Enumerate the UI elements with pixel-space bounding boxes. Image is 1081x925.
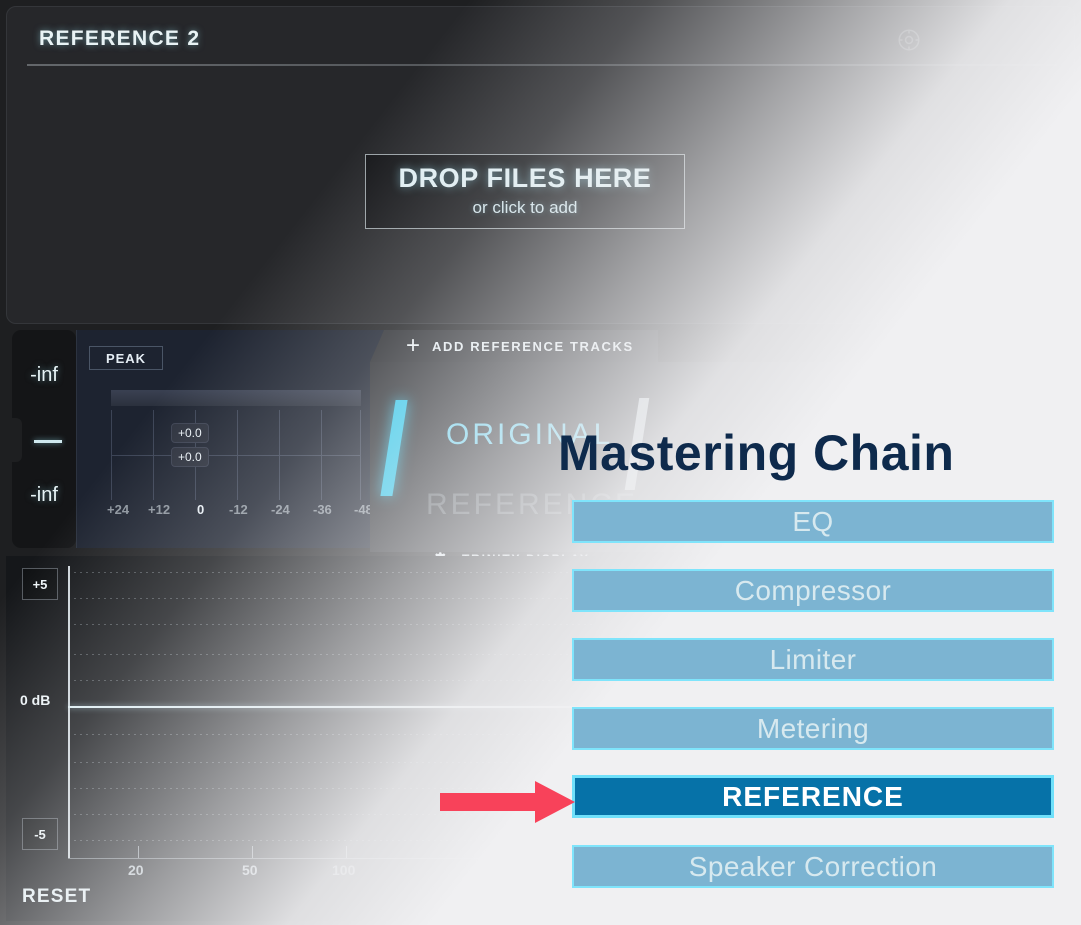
reset-button[interactable]: RESET [22,886,91,908]
chain-item-metering[interactable]: Metering [572,707,1054,750]
chain-item-label: Limiter [770,644,857,676]
scale-tick: -24 [271,502,290,517]
eq-freq-tick: 100 [332,862,355,878]
drop-zone-subtitle: or click to add [473,198,578,218]
scale-tick: 0 [197,502,204,517]
eq-x-axis [68,858,596,859]
scale-tick: -12 [229,502,248,517]
drop-zone-title: DROP FILES HERE [398,165,651,192]
chain-item-label: Compressor [735,575,891,607]
add-reference-tracks-button[interactable]: + ADD REFERENCE TRACKS [370,330,658,362]
meter-value-badge: +0.0 [171,447,209,467]
meter-left-rail[interactable]: -inf -inf [12,330,76,548]
chain-item-limiter[interactable]: Limiter [572,638,1054,681]
meter-scale: +24 +12 0 -12 -24 -36 -48 [111,502,391,522]
meter-bottom-value: -inf [12,484,76,507]
chain-item-reference[interactable]: REFERENCE [572,775,1054,818]
meter-level-bar [111,390,361,406]
scale-tick: +12 [148,502,170,517]
chain-item-speaker-correction[interactable]: Speaker Correction [572,845,1054,888]
plus-icon: + [406,334,420,358]
mastering-chain-panel: Mastering Chain EQ Compressor Limiter Me… [556,424,1081,904]
chain-item-compressor[interactable]: Compressor [572,569,1054,612]
eq-freq-tick: 20 [128,862,144,878]
mastering-chain-title: Mastering Chain [558,424,954,482]
gear-icon[interactable] [896,27,922,53]
chain-item-label: Speaker Correction [689,851,937,883]
drop-files-zone[interactable]: DROP FILES HERE or click to add [365,154,685,229]
eq-response-curve [68,706,596,708]
chain-item-label: EQ [792,506,833,538]
scale-tick: +24 [107,502,129,517]
meter-value-badge: +0.0 [171,423,209,443]
meter-grid [111,410,361,500]
title-divider [27,64,1057,66]
chain-item-eq[interactable]: EQ [572,500,1054,543]
rail-notch [12,418,22,462]
eq-curve-panel[interactable]: +5 0 dB -5 20 50 100 RESET [6,556,596,921]
meter-top-value: -inf [12,364,76,387]
meter-mid-marker [34,440,62,443]
eq-gain-bottom-label[interactable]: -5 [22,818,58,850]
eq-freq-tick: 50 [242,862,258,878]
scale-tick: -36 [313,502,332,517]
arrow-right-icon [440,781,575,823]
eq-gain-zero-label: 0 dB [20,692,50,708]
page-title: REFERENCE 2 [39,27,200,51]
reference-panel: REFERENCE 2 DROP FILES HERE or click to … [6,6,1075,324]
screenshot-root: REFERENCE 2 DROP FILES HERE or click to … [0,0,1081,925]
blend-slider-handle[interactable] [380,400,407,496]
chain-item-label: REFERENCE [722,781,904,813]
chain-item-label: Metering [757,713,869,745]
eq-gain-top-label[interactable]: +5 [22,568,58,600]
peak-mode-badge[interactable]: PEAK [89,346,163,370]
add-reference-tracks-label: ADD REFERENCE TRACKS [432,339,634,354]
